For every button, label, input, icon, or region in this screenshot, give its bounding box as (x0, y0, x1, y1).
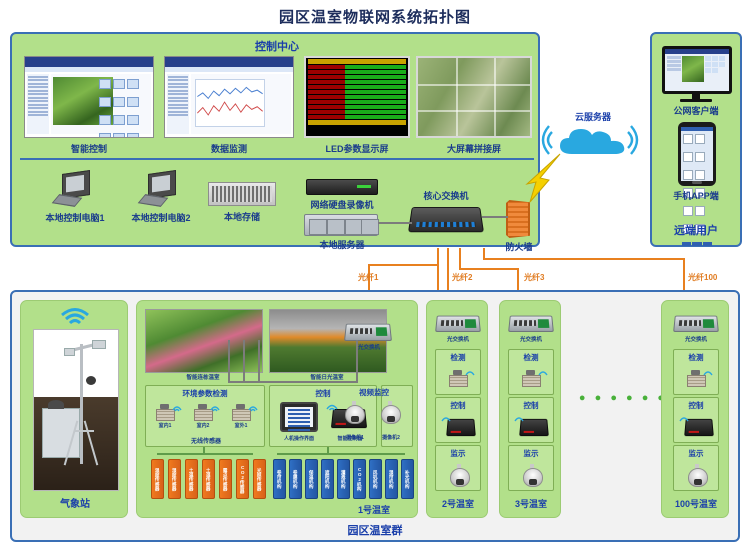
label-local-control-pc-1: 本地控制电脑1 (30, 211, 120, 224)
link-switch-to-firewall (482, 216, 508, 218)
wireless-bolt-icon (520, 150, 564, 206)
actuator-tag[interactable]: 保温机构 (305, 459, 318, 499)
greenhouse-100-column: 光交换机 检测 控制 监示 100号温室 (661, 300, 729, 518)
label-mobile-app: 手机APP端 (652, 189, 740, 202)
label-weather-station: 气象站 (21, 495, 129, 510)
optical-switch-gh3-icon[interactable] (508, 316, 554, 332)
optical-switch-gh100-icon[interactable] (673, 316, 719, 332)
label-sensor-indoor-2: 室内2 (188, 422, 218, 429)
greenhouse-cluster-panel: 气象站 智能连栋温室 智能日光温室 光交换机 环境参数检测 室内1 (10, 290, 740, 542)
actuator-tag[interactable]: 遮阳机构 (321, 459, 334, 499)
camera-icon[interactable] (450, 464, 468, 486)
label-greenhouse-3: 3号温室 (500, 497, 562, 510)
label-hmi: 人机操作界面 (270, 435, 328, 442)
sensor-tag[interactable]: CO2传感器 (236, 459, 249, 499)
local-control-pc-2[interactable] (140, 172, 180, 206)
wifi-small-icon (514, 413, 524, 423)
label-sensor-indoor-1: 室内1 (150, 422, 180, 429)
greenhouse-ellipsis: ● ● ● ● ● ● (578, 392, 668, 404)
title-control-gh100: 控制 (674, 400, 718, 411)
label-sensor-outdoor-1: 室外1 (226, 422, 256, 429)
local-server-icon[interactable] (304, 214, 378, 236)
fiber-line-1 (437, 248, 439, 292)
greenhouse-photo-multi-span (145, 309, 263, 373)
link-server-to-switch (378, 222, 412, 224)
link-gh1-video-drop (356, 340, 358, 382)
wifi-arc-right-icon (627, 120, 647, 160)
label-greenhouse-2: 2号温室 (427, 497, 489, 510)
label-optical-switch-gh3: 光交换机 (500, 335, 562, 343)
camera-icon[interactable] (688, 464, 706, 486)
block-detection-gh3: 检测 (508, 349, 554, 395)
screen-intelligent-control[interactable] (24, 56, 154, 138)
tree-connector-sensors-stem (203, 447, 205, 454)
greenhouse-cluster-title: 园区温室群 (12, 522, 738, 538)
local-control-pc-1[interactable] (54, 172, 94, 206)
tree-connector-sensors (157, 453, 253, 455)
wifi-icon (59, 307, 91, 327)
remote-users-panel: 公网客户端 手机APP端 远端用户 (650, 32, 742, 247)
fiber-label-100: 光纤100 (688, 272, 717, 283)
tree-connector-actuators (277, 453, 405, 455)
wifi-small-icon (326, 400, 338, 412)
wifi-small-icon (679, 413, 689, 423)
label-optical-switch-gh100: 光交换机 (662, 335, 730, 343)
block-monitor-gh2: 监示 (435, 445, 481, 491)
label-greenhouse-100: 100号温室 (662, 497, 730, 510)
group-environment-detection: 环境参数检测 室内1 室内2 室外1 无线传感器 (145, 385, 265, 447)
link-gh1-switch-control (243, 340, 245, 382)
camera-1-icon[interactable] (345, 401, 363, 423)
block-monitor-gh3: 监示 (508, 445, 554, 491)
link-gh1-busline (228, 381, 358, 383)
core-switch-icon[interactable] (408, 207, 484, 232)
page-title: 园区温室物联网系统拓扑图 (0, 6, 750, 27)
actuator-tag[interactable]: CO2机构 (353, 459, 366, 499)
sensor-tag[interactable]: 土温传感器 (185, 459, 198, 499)
screen-label-intelligent-control: 智能控制 (24, 142, 154, 155)
actuator-tag[interactable]: 灌溉机构 (337, 459, 350, 499)
sensor-tag[interactable]: 光照传感器 (253, 459, 266, 499)
label-optical-switch-gh1: 光交换机 (341, 343, 397, 351)
screen-data-monitoring[interactable] (164, 56, 294, 138)
label-local-storage: 本地存储 (208, 210, 276, 223)
label-optical-switch-gh2: 光交换机 (427, 335, 489, 343)
screen-video-wall[interactable] (416, 56, 532, 138)
sensor-tag[interactable]: 土湿传感器 (202, 459, 215, 499)
block-control-gh2: 控制 (435, 397, 481, 443)
greenhouse-3-column: 光交换机 检测 控制 监示 3号温室 (499, 300, 561, 518)
actuator-tag[interactable]: 风机机构 (369, 459, 382, 499)
title-control-gh3: 控制 (509, 400, 553, 411)
label-firewall: 防火墙 (498, 240, 540, 253)
title-control-gh2: 控制 (436, 400, 480, 411)
fiber-line-3 (459, 248, 461, 270)
label-camera-2: 摄像机2 (373, 434, 409, 441)
tree-connector-actuators-stem (327, 447, 329, 454)
fiber-label-3: 光纤3 (524, 272, 544, 283)
block-control-gh100: 控制 (673, 397, 719, 443)
label-local-server: 本地服务器 (296, 238, 388, 251)
actuator-tag[interactable]: 补光机构 (401, 459, 414, 499)
actuator-tag[interactable]: 湿帘机构 (385, 459, 398, 499)
label-camera-1: 摄像机1 (337, 434, 373, 441)
camera-icon[interactable] (523, 464, 541, 486)
label-local-control-pc-2: 本地控制电脑2 (116, 211, 206, 224)
screen-led-board[interactable] (304, 56, 410, 138)
wifi-small-icon (703, 367, 713, 377)
title-video-surveillance: 视频监控 (333, 387, 415, 398)
title-detection-gh2: 检测 (436, 352, 480, 363)
caption-wireless-sensors: 无线传感器 (146, 436, 266, 445)
nvr-icon[interactable] (306, 179, 378, 195)
wifi-small-icon (210, 402, 220, 412)
wifi-small-icon (441, 413, 451, 423)
actuator-tag[interactable]: 卷帘机构 (273, 459, 286, 499)
sensor-tag[interactable]: 湿度传感器 (168, 459, 181, 499)
cloud-label: 云服务器 (548, 110, 638, 123)
weather-station-column: 气象站 (20, 300, 128, 518)
ui-control-grid (98, 77, 150, 125)
label-nvr: 网络硬盘录像机 (294, 198, 390, 211)
wifi-small-icon (248, 402, 258, 412)
block-detection-gh100: 检测 (673, 349, 719, 395)
title-environment-detection: 环境参数检测 (146, 388, 264, 399)
fiber-line-1-elbow (368, 264, 439, 266)
mobile-app-icon[interactable] (678, 122, 716, 186)
fiber-line-100-drop (683, 258, 685, 292)
fiber-line-2 (447, 248, 449, 292)
title-monitor-gh100: 监示 (674, 448, 718, 459)
block-detection-gh2: 检测 (435, 349, 481, 395)
optical-switch-gh2-icon[interactable] (435, 316, 481, 332)
ui-trend-chart (195, 79, 265, 127)
hmi-panel-icon[interactable] (280, 402, 318, 432)
public-client-monitor-icon[interactable] (662, 46, 732, 94)
wifi-small-icon (172, 402, 182, 412)
camera-2-icon[interactable] (381, 401, 399, 423)
optical-switch-gh1-icon[interactable] (344, 324, 392, 341)
title-monitor-gh3: 监示 (509, 448, 553, 459)
weather-station-photo (33, 329, 119, 491)
control-center-panel: 控制中心 智能控制 数据监测 L (10, 32, 540, 247)
block-monitor-gh100: 监示 (673, 445, 719, 491)
greenhouse-1-column: 智能连栋温室 智能日光温室 光交换机 环境参数检测 室内1 室内2 (136, 300, 418, 518)
greenhouse-2-column: 光交换机 检测 控制 监示 2号温室 (426, 300, 488, 518)
link-gh1-switch-detection (228, 340, 230, 382)
link-gh1-switch-video (258, 340, 260, 382)
wifi-small-icon (538, 367, 548, 377)
title-detection-gh100: 检测 (674, 352, 718, 363)
local-storage-icon[interactable] (208, 182, 276, 206)
fiber-line-100-elbow (483, 258, 685, 260)
label-public-client: 公网客户端 (652, 104, 740, 117)
fiber-line-3-drop (517, 268, 519, 292)
screen-label-led-board: LED参数显示屏 (298, 142, 416, 155)
title-detection-gh3: 检测 (509, 352, 553, 363)
fiber-label-2: 光纤2 (452, 272, 472, 283)
cloud-icon (556, 124, 630, 158)
control-center-divider (20, 158, 534, 160)
screen-label-video-wall: 大屏幕拼接屏 (416, 142, 532, 155)
screen-label-data-monitoring: 数据监测 (164, 142, 294, 155)
ui-side-rows (167, 74, 189, 134)
label-greenhouse-1: 1号温室 (333, 503, 415, 516)
control-center-title: 控制中心 (12, 38, 542, 54)
wifi-small-icon (465, 367, 475, 377)
label-photo-solar: 智能日光温室 (269, 373, 385, 381)
title-monitor-gh2: 监示 (436, 448, 480, 459)
label-core-switch: 核心交换机 (406, 189, 486, 202)
block-control-gh3: 控制 (508, 397, 554, 443)
fiber-line-3-elbow (459, 268, 519, 270)
remote-users-title: 远端用户 (652, 222, 740, 238)
ui-side-rows (27, 74, 49, 134)
sensor-tag[interactable]: 露点传感器 (219, 459, 232, 499)
sensor-tag[interactable]: 温度传感器 (151, 459, 164, 499)
actuator-tag[interactable]: 卷膜机构 (289, 459, 302, 499)
fiber-label-1: 光纤1 (358, 272, 378, 283)
